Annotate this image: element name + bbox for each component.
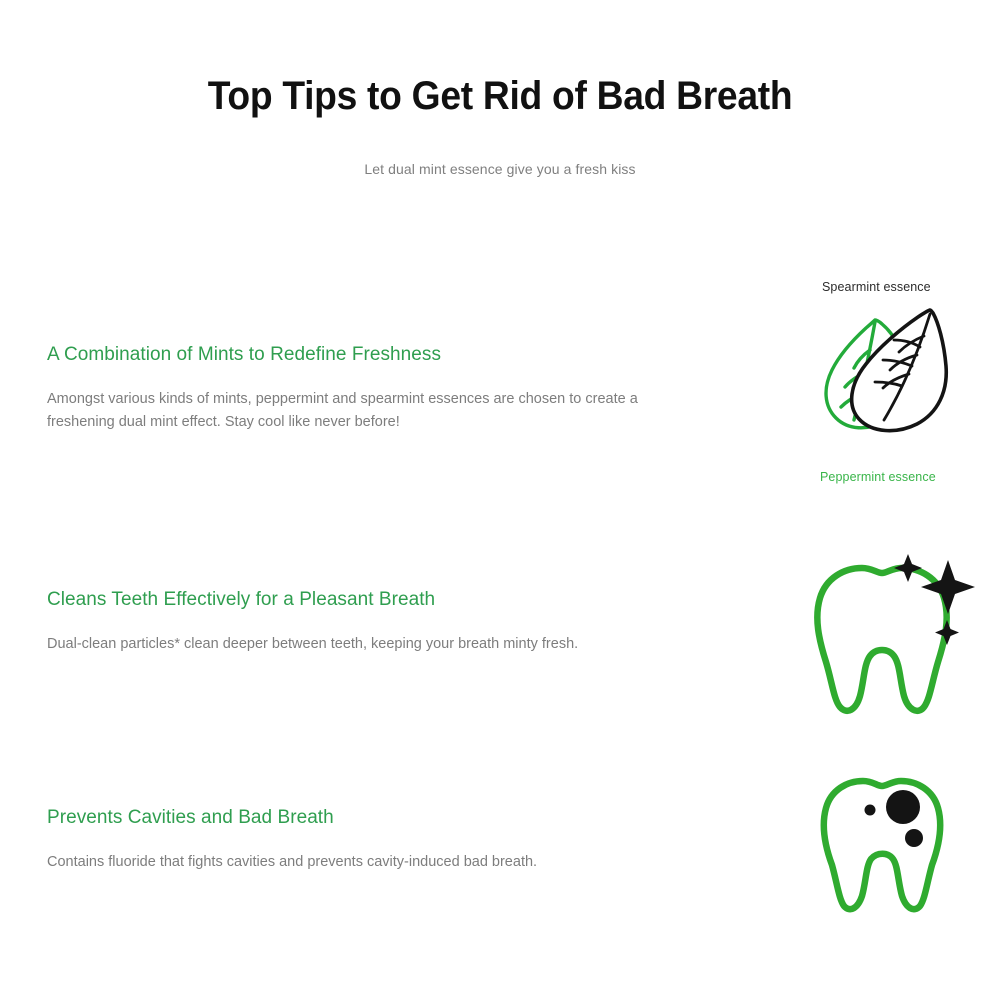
spearmint-essence-label: Spearmint essence [822, 280, 931, 294]
sparkle-icon-small-top [894, 554, 922, 582]
cavity-tooth-illustration [815, 765, 995, 920]
feature-heading: Prevents Cavities and Bad Breath [47, 807, 667, 829]
cavity-spot-large [886, 790, 920, 824]
feature-section-mint-combination: A Combination of Mints to Redefine Fresh… [47, 344, 667, 434]
page-subtitle: Let dual mint essence give you a fresh k… [0, 161, 1000, 177]
feature-heading: Cleans Teeth Effectively for a Pleasant … [47, 589, 667, 611]
feature-body: Dual-clean particles* clean deeper betwe… [47, 633, 647, 656]
feature-heading: A Combination of Mints to Redefine Fresh… [47, 344, 667, 366]
sparkle-icon-small-bottom [935, 620, 959, 645]
sparkling-tooth-illustration [800, 540, 990, 725]
feature-body: Amongst various kinds of mints, peppermi… [47, 388, 647, 434]
page-title: Top Tips to Get Rid of Bad Breath [35, 74, 965, 119]
cavity-spot-small-left [865, 805, 876, 816]
feature-section-prevents-cavities: Prevents Cavities and Bad Breath Contain… [47, 807, 667, 874]
tooth-outline-icon [824, 781, 940, 909]
two-leaves-illustration: Spearmint essence [800, 280, 1000, 495]
cavity-spot-small-lower [905, 829, 923, 847]
feature-body: Contains fluoride that fights cavities a… [47, 851, 647, 874]
sparkle-icon-large [921, 560, 975, 614]
tooth-outline-icon [817, 568, 946, 711]
two-leaves-icon [814, 302, 974, 462]
feature-section-cleans-teeth: Cleans Teeth Effectively for a Pleasant … [47, 589, 667, 656]
peppermint-essence-label: Peppermint essence [820, 470, 936, 484]
